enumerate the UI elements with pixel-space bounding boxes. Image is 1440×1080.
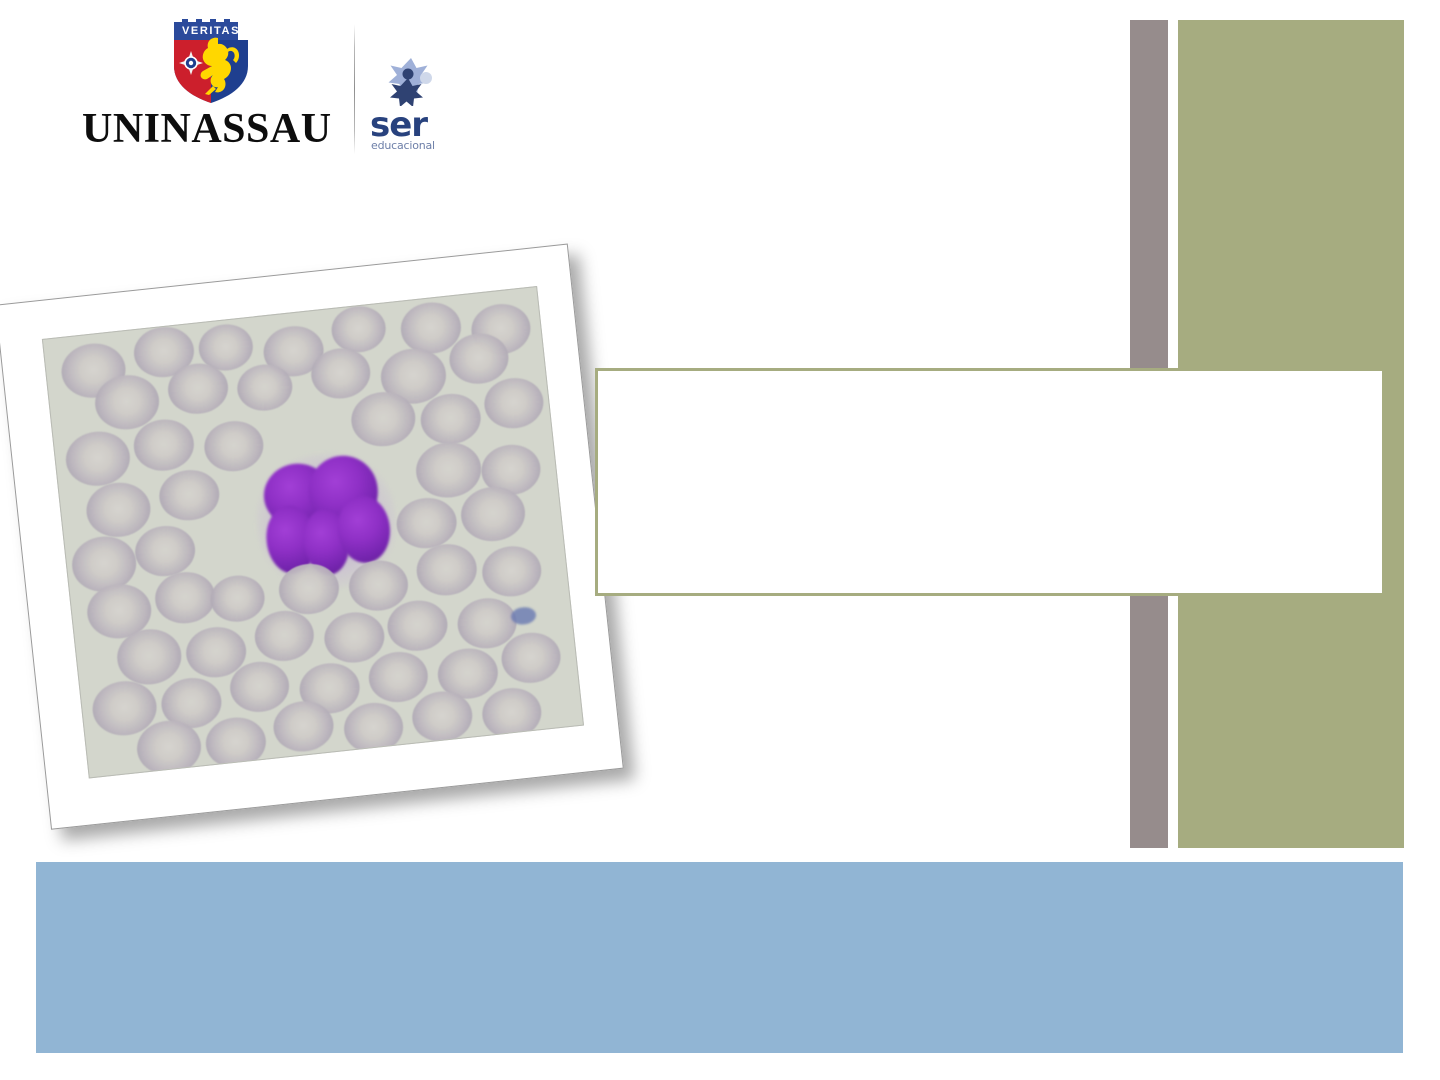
brand-logo-group: VERITAS UNINASSAU ser edu: [82, 18, 432, 153]
red-blood-cell: [481, 375, 546, 431]
decor-blue-bar: [36, 862, 1403, 1053]
red-blood-cell: [479, 544, 544, 600]
red-blood-cell: [329, 304, 388, 356]
uninassau-crest-icon: VERITAS: [170, 18, 252, 106]
red-blood-cell: [366, 649, 431, 705]
red-blood-cell: [252, 608, 317, 664]
red-blood-cell: [414, 542, 479, 598]
red-blood-cell: [322, 609, 387, 665]
red-blood-cell: [208, 573, 267, 625]
red-blood-cell: [203, 715, 268, 771]
crest-motto-text: VERITAS: [182, 25, 240, 37]
slide-canvas: VERITAS UNINASSAU ser edu: [0, 0, 1440, 1080]
red-blood-cell: [133, 523, 198, 579]
red-blood-cell: [394, 495, 459, 551]
red-blood-cell: [63, 428, 133, 489]
red-blood-cell: [413, 439, 483, 500]
uninassau-wordmark: UNINASSAU: [82, 106, 350, 152]
photo-frame: [0, 244, 624, 830]
red-blood-cell: [157, 467, 222, 523]
red-blood-cell: [385, 598, 450, 654]
micrograph-image: [42, 286, 584, 778]
content-text-box[interactable]: [595, 368, 1385, 596]
content-body-text: [598, 371, 1382, 403]
red-blood-cell: [202, 418, 267, 474]
ser-wordmark: ser: [370, 108, 442, 142]
red-blood-cell: [480, 685, 545, 741]
ser-educacional-logo: ser educacional: [370, 56, 452, 154]
red-blood-cell: [342, 700, 407, 756]
platelet: [511, 606, 538, 626]
ser-star-figures-icon: [370, 56, 452, 106]
red-blood-cell: [153, 570, 218, 626]
logo-divider: [354, 24, 355, 154]
red-blood-cell: [84, 479, 154, 540]
blood-smear-photo: [0, 242, 637, 841]
ser-tagline: educacional: [371, 140, 451, 152]
